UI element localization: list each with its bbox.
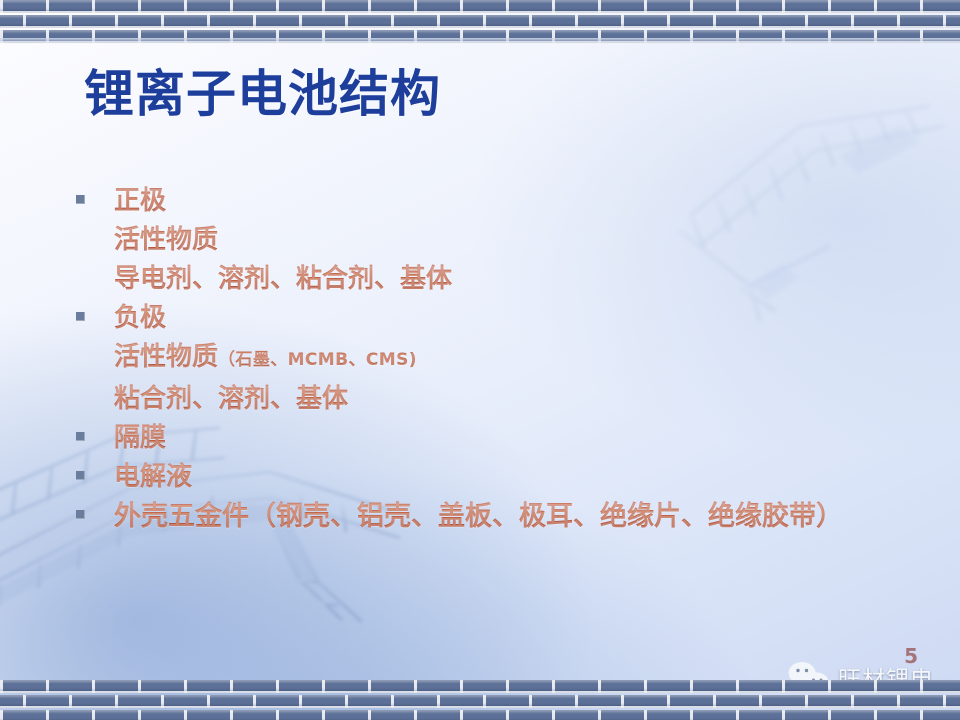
wechat-icon	[787, 660, 831, 694]
bullet-square-icon	[76, 432, 85, 441]
list-item: 活性物质	[70, 221, 930, 260]
wechat-account-label: 旺材锂电	[838, 660, 934, 694]
brick-row	[0, 710, 960, 720]
brick-border-top	[0, 0, 960, 44]
brick-row	[0, 0, 960, 13]
bullet-square-icon	[76, 471, 85, 480]
list-item-label: 导电剂、溶剂、粘合剂、基体	[70, 260, 452, 299]
list-item: 粘合剂、溶剂、基体	[70, 380, 930, 419]
list-item: 隔膜	[70, 419, 930, 458]
bullet-list: 正极 活性物质 导电剂、溶剂、粘合剂、基体 负极 活性物质（石墨、MCMB、CM…	[70, 182, 930, 536]
wechat-watermark: 旺材锂电	[787, 660, 934, 694]
bullet-square-icon	[76, 510, 85, 519]
list-item-label: 外壳五金件（钢壳、铝壳、盖板、极耳、绝缘片、绝缘胶带）	[70, 497, 843, 536]
list-item: 电解液	[70, 458, 930, 497]
list-item-paren-text: （石墨、MCMB、CMS)	[218, 350, 417, 370]
slide-canvas: 锂离子电池结构 正极 活性物质 导电剂、溶剂、粘合剂、基体 负极 活性物质（石墨…	[0, 0, 960, 720]
list-item-label: 粘合剂、溶剂、基体	[70, 380, 348, 419]
list-item: 导电剂、溶剂、粘合剂、基体	[70, 260, 930, 299]
slide-title: 锂离子电池结构	[84, 54, 441, 126]
list-item-label: 活性物质（石墨、MCMB、CMS)	[70, 338, 417, 380]
bullet-square-icon	[76, 195, 85, 204]
list-item-main-text: 活性物质	[114, 342, 218, 372]
brick-row	[0, 695, 960, 708]
list-item: 活性物质（石墨、MCMB、CMS)	[70, 338, 930, 380]
list-item: 外壳五金件（钢壳、铝壳、盖板、极耳、绝缘片、绝缘胶带）	[70, 497, 930, 536]
list-item: 正极	[70, 182, 930, 221]
brick-row	[0, 15, 960, 28]
list-item: 负极	[70, 299, 930, 338]
brick-row	[0, 30, 960, 43]
list-item-label: 电解液	[70, 458, 192, 497]
bullet-square-icon	[76, 312, 85, 321]
list-item-label: 活性物质	[70, 221, 218, 260]
